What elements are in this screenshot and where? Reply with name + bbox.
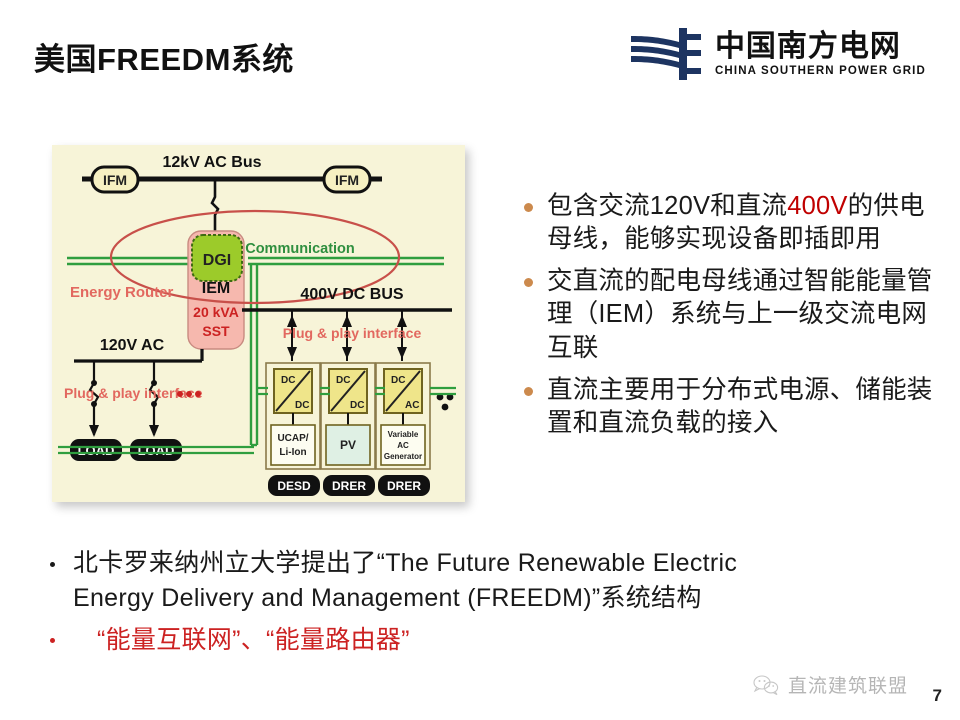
converter-3-top: DC xyxy=(391,375,405,386)
freedm-diagram-svg: 12kV AC Bus IFM IFM Communication IEM 20… xyxy=(52,145,465,502)
label-energy-router: Energy Router xyxy=(70,284,174,301)
device-3-line1: Variable xyxy=(388,430,419,439)
bullet-dot-icon xyxy=(50,562,55,567)
tag-drer-2: DRER xyxy=(387,479,421,493)
bullet-dot-icon xyxy=(524,278,533,287)
tag-drer-1: DRER xyxy=(332,479,366,493)
brand-text: 中国南方电网 CHINA SOUTHERN POWER GRID xyxy=(715,31,926,77)
label-sst: SST xyxy=(202,323,230,339)
wechat-icon xyxy=(752,674,780,696)
bottom-line-2: Energy Delivery and Management (FREEDM)”… xyxy=(73,584,702,612)
ellipsis-dots-left xyxy=(177,391,201,397)
load-2-label: LOAD xyxy=(138,443,175,458)
bullet-2-text: 交直流的配电母线通过智能能量管理（IEM）系统与上一级交流电网互联 xyxy=(547,265,944,364)
label-plug-play-right: Plug & play interface xyxy=(283,325,422,341)
load-node-2: LOAD xyxy=(130,439,182,461)
ifm-left-node: IFM xyxy=(92,167,138,192)
page-number: 7 xyxy=(933,686,942,706)
bullet-3-text: 直流主要用于分布式电源、储能装置和直流负载的接入 xyxy=(547,374,944,440)
device-column-drer-gen: DC AC Variable AC Generator DRER xyxy=(376,363,430,496)
converter-1-bottom: DC xyxy=(295,400,309,411)
device-column-drer-pv: DC DC PV DRER xyxy=(321,363,375,496)
converter-2-top: DC xyxy=(336,375,350,386)
ellipsis-dots-right xyxy=(437,394,454,411)
label-120v-ac: 120V AC xyxy=(100,337,165,354)
load-node-1: LOAD xyxy=(70,439,122,461)
tag-desd: DESD xyxy=(277,479,311,493)
bottom-line-1: 北卡罗来纳州立大学提出了“The Future Renewable Electr… xyxy=(73,549,737,577)
bullet-dot-icon xyxy=(50,638,55,643)
list-item: 交直流的配电母线通过智能能量管理（IEM）系统与上一级交流电网互联 xyxy=(524,265,944,364)
bullet-1-pre: 包含交流120V和直流 xyxy=(547,192,787,220)
label-iem: IEM xyxy=(202,280,230,297)
label-sst-rating: 20 kVA xyxy=(193,304,239,320)
list-item: 北卡罗来纳州立大学提出了“The Future Renewable Electr… xyxy=(42,546,932,615)
bottom-paragraph: 北卡罗来纳州立大学提出了“The Future Renewable Electr… xyxy=(73,546,737,615)
device-3-line2: AC xyxy=(397,441,409,450)
csg-logo-mark xyxy=(629,26,703,82)
ifm-right-label: IFM xyxy=(335,172,359,188)
device-3-line3: Generator xyxy=(384,452,422,461)
list-item: 直流主要用于分布式电源、储能装置和直流负载的接入 xyxy=(524,374,944,440)
converter-1-top: DC xyxy=(281,375,295,386)
list-item: 包含交流120V和直流400V的供电母线，能够实现设备即插即用 xyxy=(524,190,944,256)
bullet-dot-icon xyxy=(524,387,533,396)
ifm-left-label: IFM xyxy=(103,172,127,188)
converter-2-bottom: DC xyxy=(350,400,364,411)
watermark-text: 直流建筑联盟 xyxy=(788,671,908,698)
bullet-1-highlight: 400V xyxy=(787,192,847,220)
dgi-node: DGI xyxy=(192,235,242,281)
dgi-label: DGI xyxy=(203,252,231,269)
load-1-label: LOAD xyxy=(78,443,115,458)
label-12kv-ac-bus: 12kV AC Bus xyxy=(163,154,262,171)
label-communication: Communication xyxy=(245,241,355,257)
device-column-desd: DC DC UCAP/ Li-Ion DESD xyxy=(266,363,320,496)
bullet-list: 包含交流120V和直流400V的供电母线，能够实现设备即插即用 交直流的配电母线… xyxy=(524,190,944,449)
bullet-1-text: 包含交流120V和直流400V的供电母线，能够实现设备即插即用 xyxy=(547,190,944,256)
device-2-label: PV xyxy=(340,438,356,452)
device-1-line2: Li-Ion xyxy=(279,447,306,458)
converter-3-bottom: AC xyxy=(405,400,419,411)
bottom-text-block: 北卡罗来纳州立大学提出了“The Future Renewable Electr… xyxy=(42,546,932,658)
freedm-architecture-diagram: 12kV AC Bus IFM IFM Communication IEM 20… xyxy=(52,145,465,502)
page-title: 美国FREEDM系统 xyxy=(34,34,294,79)
bullet-dot-icon xyxy=(524,203,533,212)
brand-logo: 中国南方电网 CHINA SOUTHERN POWER GRID xyxy=(629,26,926,82)
ifm-right-node: IFM xyxy=(324,167,370,192)
label-400v-dc-bus: 400V DC BUS xyxy=(300,286,403,303)
brand-name-cn: 中国南方电网 xyxy=(715,31,926,63)
footer-watermark: 直流建筑联盟 xyxy=(752,671,908,698)
brand-name-en: CHINA SOUTHERN POWER GRID xyxy=(715,65,926,77)
bottom-line-3: “能量互联网”、“能量路由器” xyxy=(73,623,410,658)
device-1-line1: UCAP/ xyxy=(277,433,308,444)
bus-to-iem-connector xyxy=(212,179,218,231)
list-item: “能量互联网”、“能量路由器” xyxy=(42,623,932,658)
